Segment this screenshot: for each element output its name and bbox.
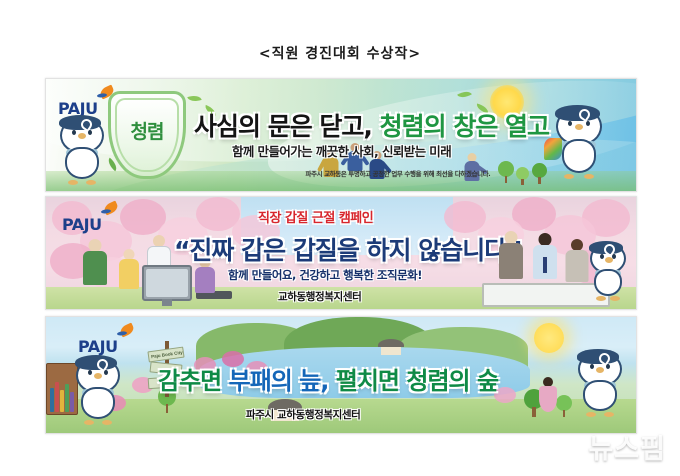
banner-1-headline: 사심의 문은 닫고, 청렴의 창은 열고 xyxy=(194,107,549,143)
banner-3-organization: 파주시 교하동행정복지센터 xyxy=(246,407,360,422)
screenshot-page: <직원 경진대회 수상작> xyxy=(0,0,680,476)
person-figure xyxy=(538,377,558,417)
mascot-character xyxy=(578,351,622,415)
page-title: <직원 경진대회 수상작> xyxy=(0,43,680,63)
banner-3-headline: 감추면 부패의 늪, 펼치면 청렴의 숲 xyxy=(158,361,498,396)
headline-segment-2: 부패의 늪, xyxy=(229,367,336,395)
banner-2-kicker: 직장 갑질 근절 캠페인 xyxy=(258,207,373,226)
person-figure xyxy=(82,239,108,295)
mascot-character xyxy=(590,243,626,299)
headline-segment-1: 사심의 문은 닫고, xyxy=(194,112,380,141)
person-figure xyxy=(464,153,480,183)
banner-2-subtitle: 함께 만들어요, 건강하고 행복한 조직문화! xyxy=(228,267,422,283)
paju-logo-text: PAJU xyxy=(78,337,118,356)
monitor-icon xyxy=(142,265,192,301)
wing-icon xyxy=(544,138,562,160)
newspim-watermark: 뉴스핌 xyxy=(588,427,666,466)
house-icon xyxy=(378,339,404,355)
headline-segment-3: 펼치면 청렴의 숲 xyxy=(336,367,498,395)
tree-icon xyxy=(556,395,572,417)
bookshelf-icon xyxy=(46,363,78,415)
banner-anti-gapjil: PAJU 직장 갑질 근절 캠페인 “진짜 갑은 갑질을 하지 않습니다” 함께… xyxy=(45,196,637,310)
banner-1-fineprint: 파주시 교하동은 투명하고 공정한 업무 수행을 위해 최선을 다하겠습니다. xyxy=(198,169,598,178)
paju-logo: PAJU xyxy=(78,327,138,357)
banner-integrity-gate: PAJU 청렴 사심의 문은 닫고, 청렴의 창은 열고 함께 만들어가는 깨끗… xyxy=(45,78,637,192)
banner-1-subtitle: 함께 만들어가는 깨끗한 사회, 신뢰받는 미래 xyxy=(232,141,451,160)
headline-segment-1: 감추면 xyxy=(158,367,229,395)
person-figure xyxy=(118,249,140,295)
headline-segment-2: 청렴의 창은 열고 xyxy=(380,112,549,141)
paju-logo-text: PAJU xyxy=(62,215,102,234)
sun-icon xyxy=(534,323,564,353)
shield-label: 청렴 xyxy=(108,117,186,144)
banner-corruption-swamp: PAJU Paju Book City 감추면 부패의 늪, 펼치면 청렴의 숲 xyxy=(45,316,637,434)
person-figure xyxy=(498,231,524,291)
mascot-character xyxy=(60,117,104,183)
paju-logo: PAJU xyxy=(62,205,122,235)
banner-2-headline: “진짜 갑은 갑질을 하지 않습니다” xyxy=(174,231,522,267)
mascot-character xyxy=(76,357,120,423)
banner-2-organization: 교하동행정복지센터 xyxy=(278,289,361,304)
integrity-shield-emblem: 청렴 xyxy=(108,91,186,179)
mascot-character xyxy=(556,107,602,177)
